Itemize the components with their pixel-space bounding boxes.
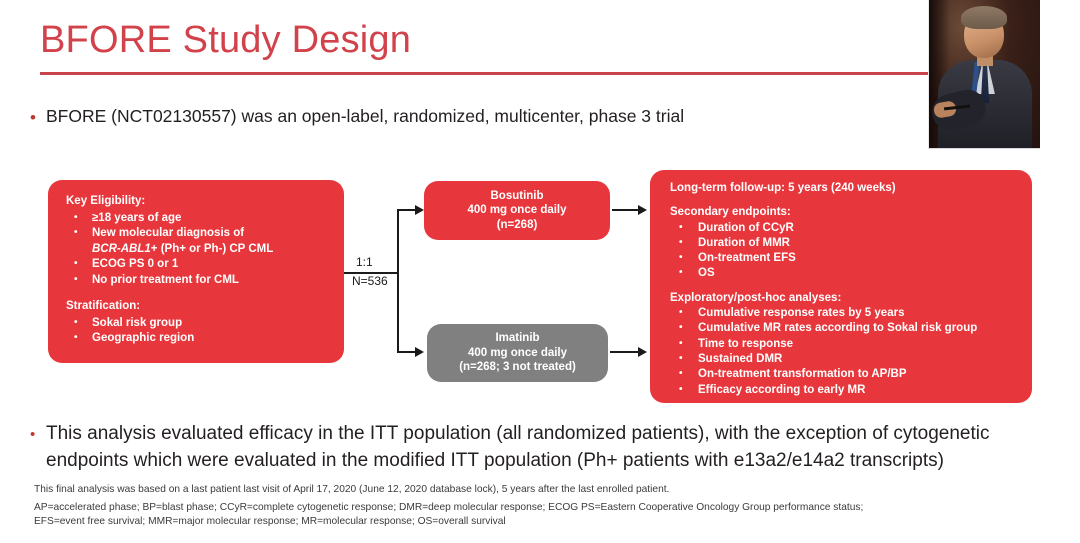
- list-item: Geographic region: [66, 331, 328, 347]
- arm-dose: 400 mg once daily: [468, 346, 567, 361]
- title-divider: [40, 72, 1040, 75]
- list-item: Duration of MMR: [670, 236, 1020, 251]
- list-item: Cumulative response rates by 5 years: [670, 306, 1020, 321]
- analysis-bullet-row: • This analysis evaluated efficacy in th…: [30, 420, 1060, 474]
- connector-bosutinib-to-outcomes: [612, 209, 639, 211]
- spacer: [670, 196, 1020, 205]
- list-item: New molecular diagnosis of: [66, 226, 328, 242]
- connector-to-bosutinib: [397, 209, 416, 211]
- footnote-abbreviations-1: AP=accelerated phase; BP=blast phase; CC…: [34, 501, 1054, 516]
- footnote-analysis-date: This final analysis was based on a last …: [34, 483, 1054, 498]
- footnotes: This final analysis was based on a last …: [34, 483, 1054, 530]
- total-enrolled-label: N=536: [352, 274, 388, 289]
- eligibility-heading: Key Eligibility:: [66, 194, 328, 210]
- list-item: On-treatment transformation to AP/BP: [670, 367, 1020, 382]
- secondary-endpoints-list: Duration of CCyR Duration of MMR On-trea…: [670, 221, 1020, 282]
- footnote-abbreviations-2: EFS=event free survival; MMR=major molec…: [34, 515, 1054, 530]
- list-item-continuation: BCR-ABL1+ (Ph+ or Ph-) CP CML: [66, 242, 328, 258]
- list-item: Cumulative MR rates according to Sokal r…: [670, 321, 1020, 336]
- arm-name: Bosutinib: [490, 189, 543, 204]
- bullet-dot-icon: •: [30, 104, 46, 126]
- arm-name: Imatinib: [495, 331, 539, 346]
- top-bullet-row: • BFORE (NCT02130557) was an open-label,…: [30, 104, 920, 129]
- list-item: Sokal risk group: [66, 316, 328, 332]
- bosutinib-arm-box: Bosutinib 400 mg once daily (n=268): [424, 181, 610, 240]
- speaker-hair: [961, 6, 1007, 29]
- connector-to-imatinib: [397, 351, 416, 353]
- page-title: BFORE Study Design: [40, 18, 411, 62]
- speaker-video-overlay[interactable]: [928, 0, 1040, 149]
- bullet-dot-icon: •: [30, 420, 46, 442]
- arrow-head-icon: [638, 347, 647, 357]
- secondary-endpoints-heading: Secondary endpoints:: [670, 205, 1020, 220]
- exploratory-analyses-heading: Exploratory/post-hoc analyses:: [670, 291, 1020, 306]
- gene-name: BCR-ABL1: [92, 243, 151, 255]
- stratification-heading: Stratification:: [66, 299, 328, 315]
- list-item: On-treatment EFS: [670, 251, 1020, 266]
- analysis-bullet-text: This analysis evaluated efficacy in the …: [46, 420, 1060, 474]
- eligibility-box: Key Eligibility: ≥18 years of age New mo…: [48, 180, 344, 363]
- followup-label: Long-term follow-up: 5 years (240 weeks): [670, 181, 1020, 196]
- arm-n: (n=268; 3 not treated): [459, 360, 576, 375]
- gene-qualifier: + (Ph+ or Ph-) CP CML: [151, 243, 273, 255]
- randomization-ratio-label: 1:1: [356, 255, 373, 270]
- spacer: [66, 288, 328, 299]
- randomization-vertical-line: [397, 209, 399, 353]
- arm-dose: 400 mg once daily: [467, 203, 566, 218]
- slide-canvas: BFORE Study Design • BFORE (NCT02130557)…: [0, 0, 1080, 543]
- list-item: Duration of CCyR: [670, 221, 1020, 236]
- list-item: Efficacy according to early MR: [670, 383, 1020, 398]
- list-item: ECOG PS 0 or 1: [66, 257, 328, 273]
- arrow-head-icon: [415, 347, 424, 357]
- arrow-head-icon: [638, 205, 647, 215]
- list-item: OS: [670, 266, 1020, 281]
- eligibility-list: ≥18 years of age New molecular diagnosis…: [66, 211, 328, 289]
- connector-imatinib-to-outcomes: [610, 351, 639, 353]
- stratification-list: Sokal risk group Geographic region: [66, 316, 328, 347]
- list-item: Time to response: [670, 337, 1020, 352]
- arm-n: (n=268): [497, 218, 538, 233]
- list-item: Sustained DMR: [670, 352, 1020, 367]
- imatinib-arm-box: Imatinib 400 mg once daily (n=268; 3 not…: [427, 324, 608, 382]
- list-item: No prior treatment for CML: [66, 273, 328, 289]
- outcomes-box: Long-term follow-up: 5 years (240 weeks)…: [650, 170, 1032, 403]
- spacer: [670, 282, 1020, 291]
- exploratory-analyses-list: Cumulative response rates by 5 years Cum…: [670, 306, 1020, 398]
- top-bullet-text: BFORE (NCT02130557) was an open-label, r…: [46, 104, 684, 129]
- arrow-head-icon: [415, 205, 424, 215]
- list-item: ≥18 years of age: [66, 211, 328, 227]
